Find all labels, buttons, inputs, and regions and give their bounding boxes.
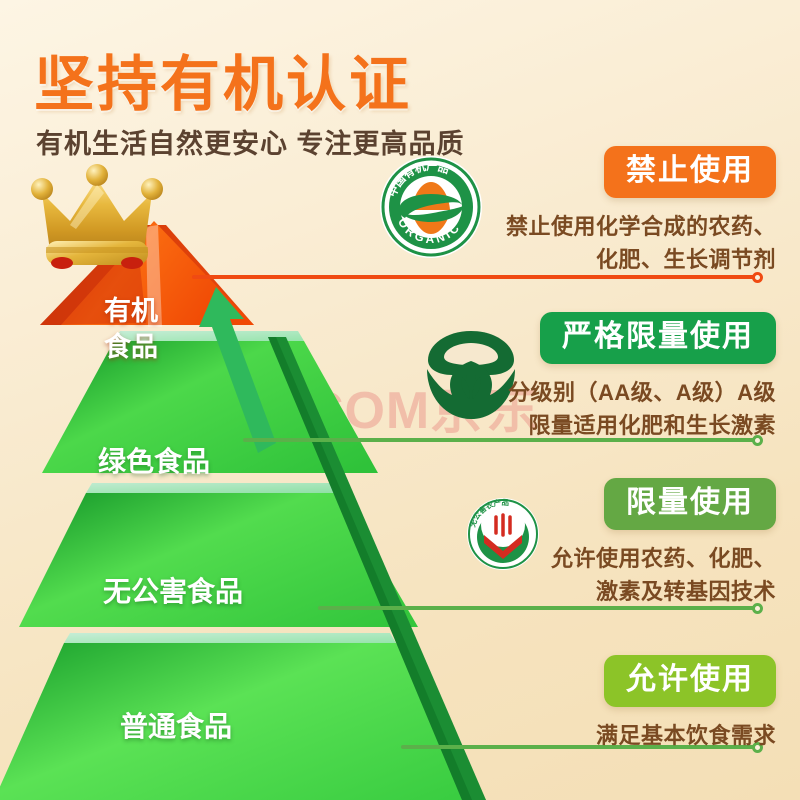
page-title: 坚持有机认证: [34, 36, 412, 123]
poster-canvas: 坚持有机认证 有机生活自然更安心 专注更高品质 JD.COM京东: [0, 0, 800, 800]
info-item-prohibited: 禁止使用 禁止使用化学合成的农药、 化肥、生长调节剂: [506, 146, 776, 276]
status-badge-limited: 限量使用: [604, 478, 776, 530]
info-description-strictly-limited: 分级别（AA级、A级）A级 限量适用化肥和生长激素: [508, 376, 776, 442]
status-badge-prohibited: 禁止使用: [604, 146, 776, 198]
green-food-logo: [422, 327, 520, 428]
china-organic-product-logo: 中国有机产品 ORGANIC: [363, 156, 500, 264]
food-grade-pyramid: [0, 215, 506, 800]
status-badge-allowed: 允许使用: [604, 655, 776, 707]
info-item-strictly-limited: 严格限量使用 分级别（AA级、A级）A级 限量适用化肥和生长激素: [508, 312, 776, 442]
info-description-allowed: 满足基本饮食需求: [596, 719, 776, 752]
info-description-prohibited: 禁止使用化学合成的农药、 化肥、生长调节剂: [506, 210, 776, 276]
info-description-limited: 允许使用农药、化肥、 激素及转基因技术: [551, 542, 776, 608]
info-item-allowed: 允许使用 满足基本饮食需求: [596, 655, 776, 752]
status-badge-strictly-limited: 严格限量使用: [540, 312, 776, 364]
connector-line-1: [192, 275, 758, 279]
pollution-free-agricultural-product-logo: 无公害农产品: [466, 497, 540, 576]
crown-icon: [24, 163, 174, 288]
info-item-limited: 限量使用 允许使用农药、化肥、 激素及转基因技术: [551, 478, 776, 608]
